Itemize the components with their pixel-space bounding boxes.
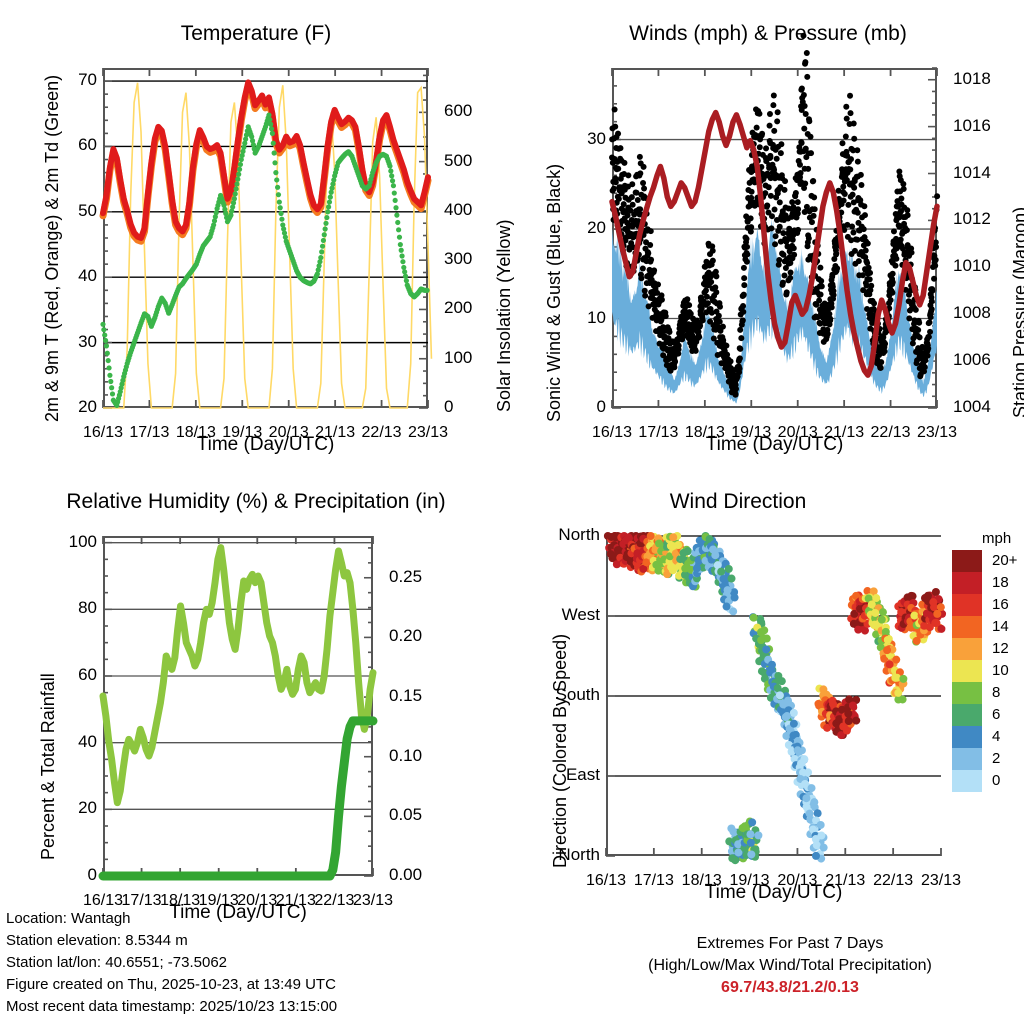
temperature-svg [103,68,428,408]
winds-ylabel-left: Sonic Wind & Gust (Blue, Black) [544,164,565,422]
colorbar-label: 4 [992,728,1024,745]
axis-tick-label: 0.15 [389,686,445,706]
winds-xlabel: Time (Day/UTC) [612,434,937,456]
axis-tick-label: South [528,685,600,705]
humidity-svg [103,536,373,876]
axis-tick-label: 30 [558,129,606,149]
axis-tick-label: 1004 [953,397,1009,417]
colorbar-label: 10 [992,662,1024,679]
colorbar-swatch [952,660,982,682]
axis-tick-label: 400 [444,200,490,220]
axis-tick-label: North [528,525,600,545]
colorbar-label: 2 [992,750,1024,767]
colorbar-swatch [952,704,982,726]
axis-tick-label: 20 [47,397,97,417]
axis-tick-label: 1008 [953,303,1009,323]
colorbar-title: mph [982,530,1011,547]
temperature-xlabel: Time (Day/UTC) [103,434,428,456]
axis-tick-label: 200 [444,298,490,318]
axis-tick-label: 0.10 [389,746,445,766]
axis-tick-label: 600 [444,101,490,121]
axis-tick-label: 30 [47,332,97,352]
panel-humidity: Relative Humidity (%) & Precipitation (i… [0,490,512,930]
colorbar-label: 20+ [992,552,1024,569]
footer-elevation: Station elevation: 8.5344 m [6,932,188,949]
colorbar-swatch [952,726,982,748]
colorbar-swatch [952,594,982,616]
axis-tick-label: 1012 [953,209,1009,229]
colorbar-label: 16 [992,596,1024,613]
temperature-plot [103,68,428,408]
axis-tick-label: 0.20 [389,626,445,646]
colorbar-label: 14 [992,618,1024,635]
extremes-values: 69.7/43.8/21.2/0.13 [600,979,980,997]
axis-tick-label: 10 [558,308,606,328]
colorbar-swatch [952,682,982,704]
temperature-ylabel-left: 2m & 9m T (Red, Orange) & 2m Td (Green) [42,75,63,422]
panel-winddir: Wind Direction Direction (Colored By Spe… [512,490,1024,930]
axis-tick-label: 40 [47,266,97,286]
axis-tick-label: 0 [47,865,97,885]
winds-ylabel-right: Station Pressure (Maroon) [1010,207,1024,418]
axis-tick-label: 70 [47,70,97,90]
footer-recent: Most recent data timestamp: 2025/10/23 1… [6,998,337,1015]
colorbar-swatch [952,572,982,594]
panel-winds: Winds (mph) & Pressure (mb) Sonic Wind &… [512,22,1024,462]
axis-tick-label: 100 [444,348,490,368]
axis-tick-label: 1016 [953,116,1009,136]
winddir-title: Wind Direction [512,490,964,514]
axis-tick-label: 300 [444,249,490,269]
axis-tick-label: 0 [444,397,490,417]
axis-tick-label: 1018 [953,69,1009,89]
axis-tick-label: 1010 [953,256,1009,276]
colorbar-swatch [952,638,982,660]
axis-tick-label: East [528,765,600,785]
colorbar-swatch [952,770,982,792]
footer-created: Figure created on Thu, 2025-10-23, at 13… [6,976,336,993]
humidity-plot [103,536,373,876]
axis-tick-label: 20 [47,798,97,818]
axis-tick-label: 60 [47,135,97,155]
winddir-xlabel: Time (Day/UTC) [606,882,941,904]
colorbar-label: 6 [992,706,1024,723]
temperature-title: Temperature (F) [0,22,512,46]
panel-temperature: Temperature (F) 2m & 9m T (Red, Orange) … [0,22,512,462]
humidity-title: Relative Humidity (%) & Precipitation (i… [4,490,508,514]
axis-tick-label: 0.00 [389,865,445,885]
colorbar-label: 12 [992,640,1024,657]
axis-tick-label: 80 [47,598,97,618]
colorbar-swatch [952,748,982,770]
winds-title: Winds (mph) & Pressure (mb) [532,22,1004,46]
axis-tick-label: 1014 [953,163,1009,183]
winds-plot [612,68,937,408]
colorbar-swatch [952,550,982,572]
colorbar-label: 0 [992,772,1024,789]
extremes-subtitle: (High/Low/Max Wind/Total Precipitation) [600,957,980,975]
colorbar-label: 8 [992,684,1024,701]
axis-tick-label: 0 [558,397,606,417]
axis-tick-label: 0.25 [389,567,445,587]
extremes-heading: Extremes For Past 7 Days [600,935,980,953]
footer-latlon: Station lat/lon: 40.6551; -73.5062 [6,954,227,971]
colorbar-swatch [952,616,982,638]
axis-tick-label: West [528,605,600,625]
axis-tick-label: 100 [47,532,97,552]
axis-tick-label: 0.05 [389,805,445,825]
footer-location: Location: Wantagh [6,910,131,927]
winds-svg [612,68,937,408]
axis-tick-label: 50 [47,201,97,221]
colorbar-label: 18 [992,574,1024,591]
winddir-plot [606,536,941,856]
axis-tick-label: 20 [558,218,606,238]
axis-tick-label: 40 [47,732,97,752]
axis-tick-label: North [528,845,600,865]
winddir-svg [606,536,941,856]
humidity-xlabel: Time (Day/UTC) [103,902,373,924]
axis-tick-label: 60 [47,665,97,685]
humidity-ylabel-left: Percent & Total Rainfall [38,673,59,860]
axis-tick-label: 500 [444,151,490,171]
winddir-ylabel-left: Direction (Colored By Speed) [550,634,571,868]
axis-tick-label: 1006 [953,350,1009,370]
